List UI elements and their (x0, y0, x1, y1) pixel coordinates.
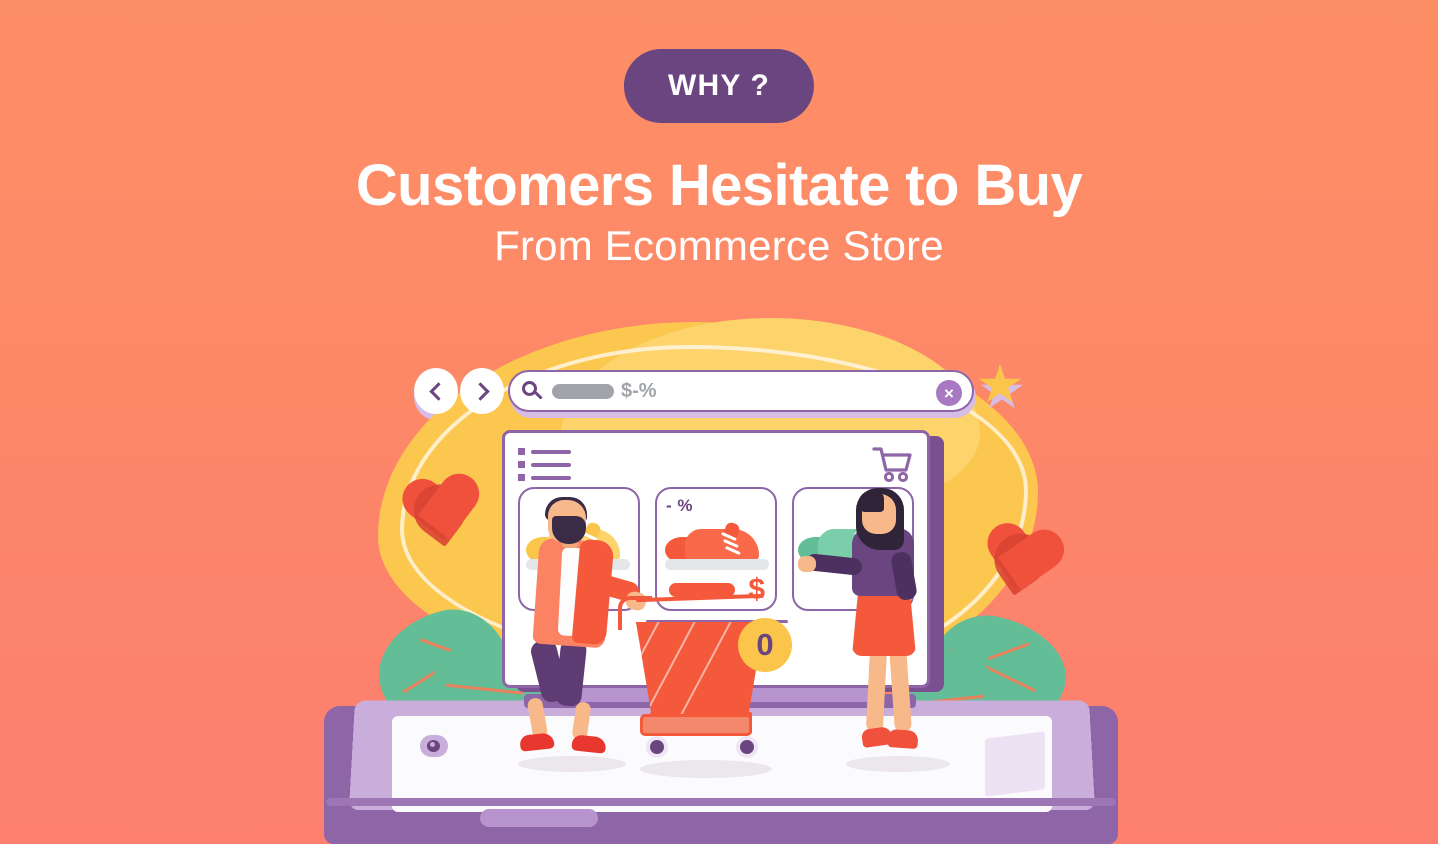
close-icon[interactable]: × (936, 380, 962, 406)
chevron-right-icon[interactable] (460, 368, 504, 414)
chevron-left-icon[interactable] (414, 368, 458, 414)
woman-hand (798, 556, 816, 572)
discount-label: - % (666, 496, 693, 516)
heart-icon (402, 473, 485, 551)
tablet-edge (326, 798, 1116, 806)
search-input[interactable]: $-% × (508, 370, 974, 412)
price-symbol: $ (748, 573, 765, 607)
tablet-home-button[interactable] (480, 809, 598, 827)
search-icon (522, 381, 542, 401)
product-card[interactable]: - % $ (655, 487, 777, 611)
cart-lower-tray (640, 714, 752, 736)
heart-icon (981, 522, 1066, 602)
shadow (846, 756, 950, 772)
shopping-cart-icon[interactable] (872, 446, 914, 484)
cart-count-badge: 0 (738, 618, 792, 672)
why-badge: WHY ? (624, 49, 814, 123)
list-icon[interactable] (518, 448, 574, 482)
man-legs (528, 640, 618, 750)
cart-wheel (736, 736, 758, 758)
tablet-side-panel (985, 731, 1045, 796)
shadow (518, 756, 626, 772)
poster-canvas: WHY ? Customers Hesitate to Buy From Eco… (0, 0, 1438, 844)
search-query-pill (552, 384, 614, 399)
tablet-camera (420, 735, 448, 757)
woman-legs (862, 646, 922, 756)
search-query-text: $-% (621, 380, 657, 403)
page-subtitle: From Ecommerce Store (0, 222, 1438, 270)
shadow (640, 760, 772, 778)
cart-wheel (646, 736, 668, 758)
page-title: Customers Hesitate to Buy (0, 152, 1438, 219)
woman-hair-front (858, 490, 884, 512)
